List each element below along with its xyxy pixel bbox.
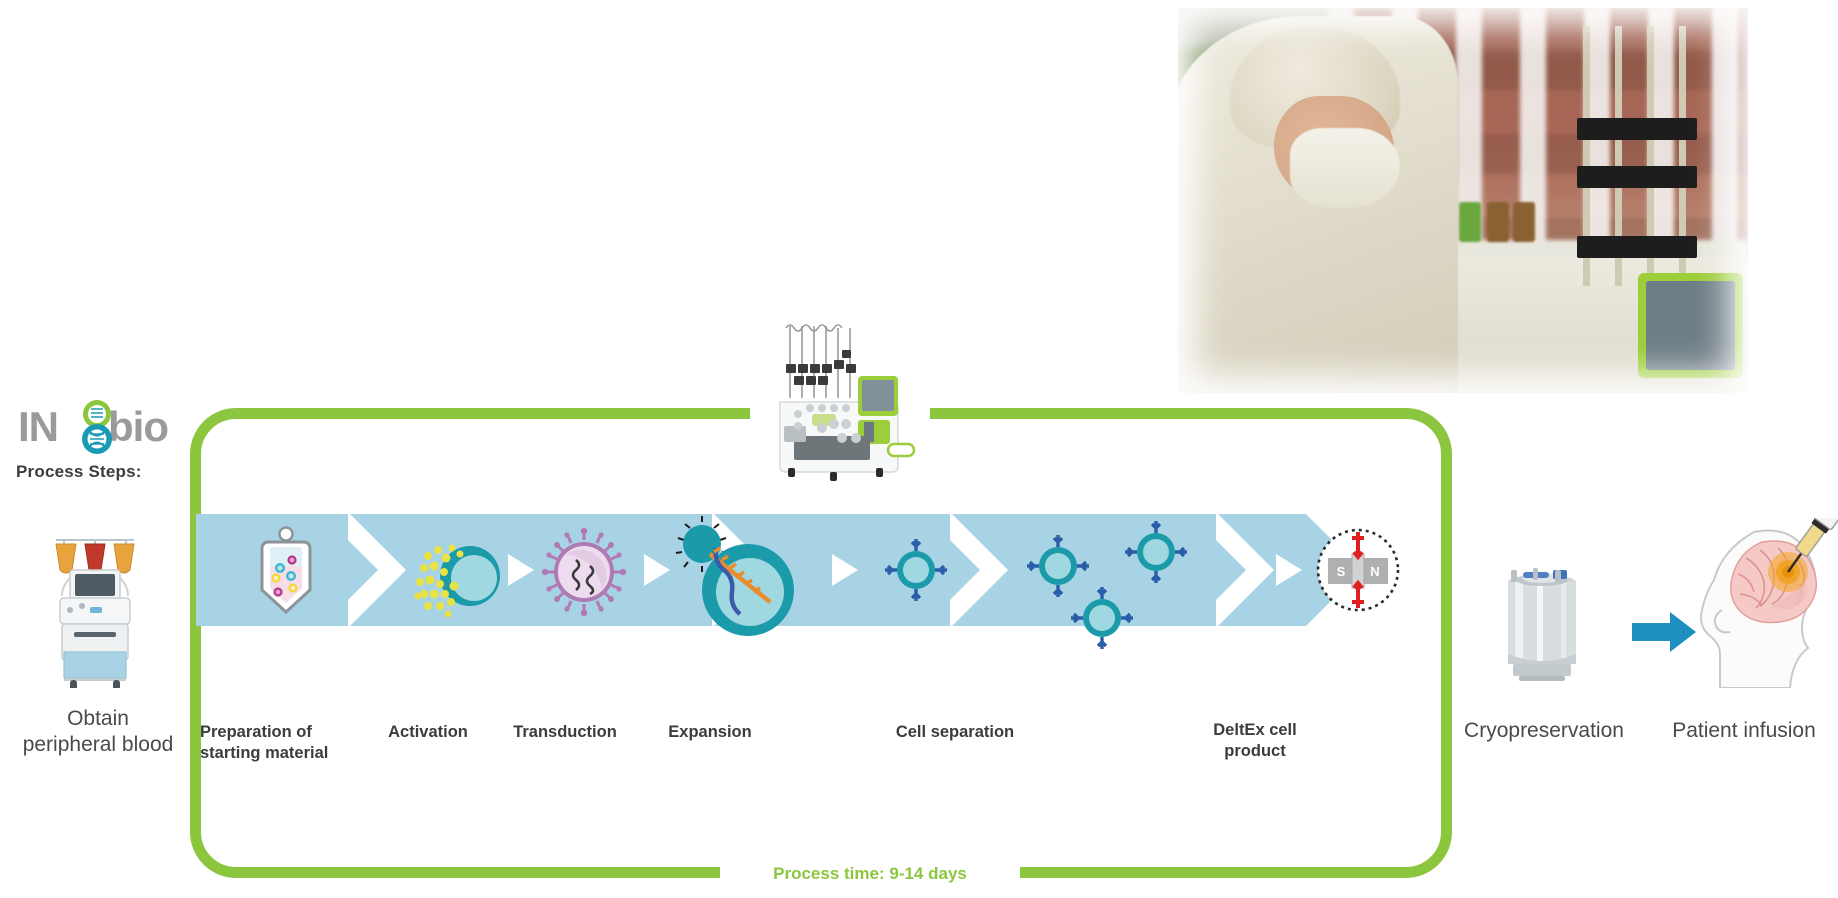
cryopreservation-caption: Cryopreservation — [1452, 718, 1636, 744]
infusion-arrow-icon — [1632, 612, 1696, 652]
step-label-deltex-product: DeltEx cell product — [1170, 720, 1340, 762]
step-label-transduction: Transduction — [490, 722, 640, 743]
patient-infusion-caption: Patient infusion — [1650, 718, 1838, 744]
cell-processing-machine-icon — [772, 318, 920, 488]
cleanroom-operator-photo — [1178, 8, 1748, 393]
magnet-pole-north: N — [1370, 564, 1379, 579]
in8bio-logo: INbio — [18, 400, 178, 454]
step-transduction-line1: Transduction — [490, 722, 640, 743]
magnetic-separation-icon: S N — [1318, 530, 1398, 610]
step-activation-line1: Activation — [368, 722, 488, 743]
photo-operator-mask — [1290, 128, 1400, 208]
process-time-label: Process time: 9-14 days — [720, 857, 1020, 891]
step-deltex-line1: DeltEx cell — [1170, 720, 1340, 741]
cryotank-icon — [1497, 558, 1587, 683]
photo-machine-screen — [1638, 273, 1743, 378]
slide-canvas: INbio Process Steps: Process time: 9-14 … — [0, 0, 1838, 898]
step-expansion-line1: Expansion — [640, 722, 780, 743]
step-label-activation: Activation — [368, 722, 488, 743]
process-arrow-chain: S N — [196, 514, 1426, 716]
step-separation-line1: Cell separation — [860, 722, 1050, 743]
step-deltex-line2: product — [1170, 741, 1340, 762]
apheresis-machine-icon — [42, 528, 148, 688]
step-label-preparation: Preparation of starting material — [200, 722, 360, 764]
photo-iv-pole-rack — [1573, 26, 1703, 306]
left-caption-line1: Obtain — [0, 706, 196, 732]
step-label-cell-separation: Cell separation — [860, 722, 1050, 743]
patient-head-injection-icon — [1700, 518, 1838, 688]
left-stage-caption: Obtain peripheral blood — [0, 706, 196, 758]
left-caption-line2: peripheral blood — [0, 732, 196, 758]
logo-text-in: IN — [18, 403, 58, 450]
magnet-pole-south: S — [1337, 564, 1346, 579]
step-preparation-line1: Preparation of — [200, 722, 360, 743]
infinity-dna-icon — [70, 398, 124, 456]
step-label-expansion: Expansion — [640, 722, 780, 743]
step-preparation-line2: starting material — [200, 743, 360, 764]
process-steps-label: Process Steps: — [16, 462, 142, 482]
